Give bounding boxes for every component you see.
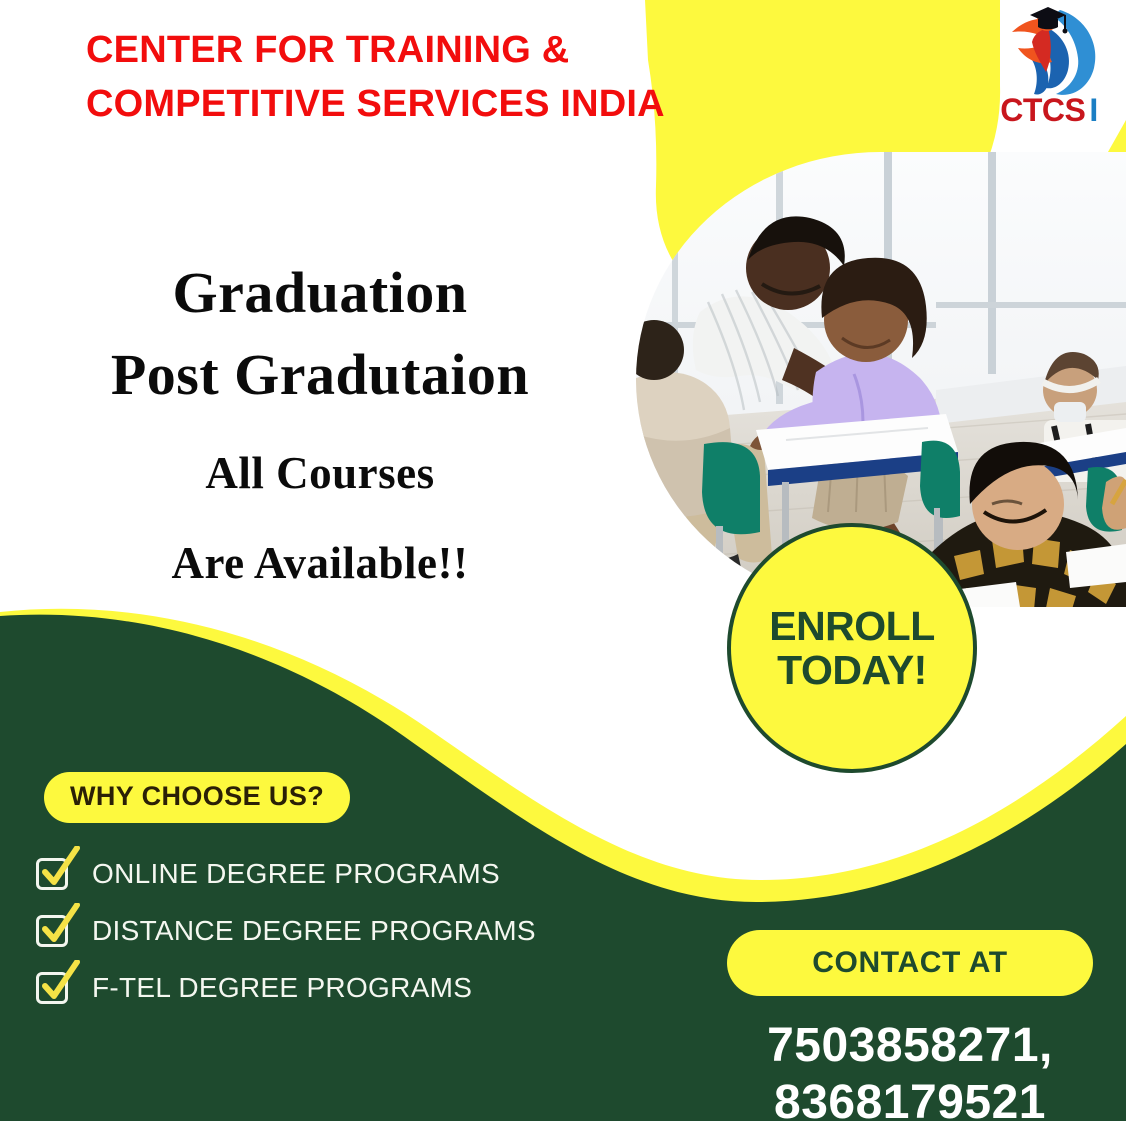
check-icon bbox=[37, 960, 81, 1004]
graduate-figure-icon bbox=[990, 2, 1108, 102]
phone-number-1[interactable]: 7503858271, bbox=[700, 1018, 1120, 1075]
logo-wordmark: CTCSI bbox=[990, 94, 1108, 126]
phone-number-2[interactable]: 8368179521 bbox=[700, 1075, 1120, 1121]
headline-line-3: All Courses bbox=[40, 439, 600, 507]
feature-list: ONLINE DEGREE PROGRAMS DISTANCE DEGREE P… bbox=[36, 845, 536, 1016]
contact-at-pill: CONTACT AT bbox=[727, 930, 1093, 996]
headline-line-4: Are Available!! bbox=[40, 529, 600, 597]
promotional-poster: CENTER FOR TRAINING & COMPETITIVE SERVIC… bbox=[0, 0, 1126, 1121]
feature-label: F-TEL DEGREE PROGRAMS bbox=[92, 972, 472, 1004]
checkbox-icon bbox=[36, 972, 68, 1004]
contact-phone-numbers: 7503858271, 8368179521 bbox=[700, 1018, 1120, 1121]
checkbox-icon bbox=[36, 858, 68, 890]
headline-line-2: Post Gradutaion bbox=[40, 334, 600, 416]
feature-label: DISTANCE DEGREE PROGRAMS bbox=[92, 915, 536, 947]
enroll-badge-line-1: ENROLL bbox=[769, 604, 935, 648]
ctcs-logo: CTCSI bbox=[990, 2, 1108, 142]
logo-wordmark-text: CTCS bbox=[1000, 92, 1085, 128]
why-choose-us-pill: WHY CHOOSE US? bbox=[44, 772, 350, 823]
checkbox-icon bbox=[36, 915, 68, 947]
logo-wordmark-suffix: I bbox=[1089, 92, 1097, 128]
page-title: CENTER FOR TRAINING & COMPETITIVE SERVIC… bbox=[86, 24, 706, 132]
list-item: ONLINE DEGREE PROGRAMS bbox=[36, 845, 536, 902]
feature-label: ONLINE DEGREE PROGRAMS bbox=[92, 858, 500, 890]
check-icon bbox=[37, 903, 81, 947]
headline-line-1: Graduation bbox=[40, 252, 600, 334]
headline-block: Graduation Post Gradutaion All Courses A… bbox=[40, 252, 600, 598]
check-icon bbox=[37, 846, 81, 890]
list-item: F-TEL DEGREE PROGRAMS bbox=[36, 959, 536, 1016]
list-item: DISTANCE DEGREE PROGRAMS bbox=[36, 902, 536, 959]
enroll-today-badge[interactable]: ENROLL TODAY! bbox=[727, 523, 977, 773]
enroll-badge-line-2: TODAY! bbox=[777, 648, 927, 692]
